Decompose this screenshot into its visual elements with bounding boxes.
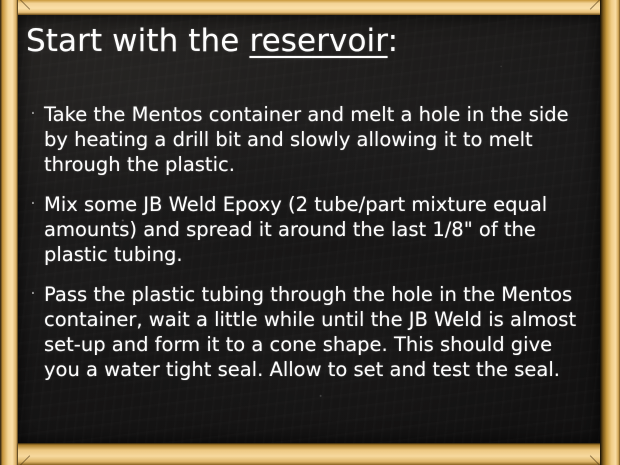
- frame-left-band: [0, 0, 18, 465]
- list-item: · Mix some JB Weld Epoxy (2 tube/part mi…: [22, 192, 596, 267]
- bullet-text: Mix some JB Weld Epoxy (2 tube/part mixt…: [44, 192, 596, 267]
- slide-title-underlined-term: reservoir: [249, 23, 387, 59]
- slide-title-suffix: :: [388, 23, 399, 59]
- bullet-dot-icon: ·: [22, 192, 44, 217]
- frame-bottom-band: [0, 443, 620, 465]
- slide-content: Start with the reservoir: · Take the Men…: [18, 15, 600, 443]
- slide-title-prefix: Start with the: [26, 23, 249, 59]
- bullet-dot-icon: ·: [22, 282, 44, 307]
- chalkboard-slide: Start with the reservoir: · Take the Men…: [0, 0, 620, 465]
- list-item: · Pass the plastic tubing through the ho…: [22, 282, 596, 382]
- list-item: · Take the Mentos container and melt a h…: [22, 102, 596, 177]
- frame-right-band: [600, 0, 620, 465]
- frame-top-band: [0, 0, 620, 15]
- chalkboard-surface: Start with the reservoir: · Take the Men…: [18, 15, 600, 443]
- bullet-dot-icon: ·: [22, 102, 44, 127]
- bullet-text: Pass the plastic tubing through the hole…: [44, 282, 596, 382]
- slide-title: Start with the reservoir:: [26, 23, 398, 59]
- bullet-list: · Take the Mentos container and melt a h…: [22, 102, 596, 397]
- bullet-text: Take the Mentos container and melt a hol…: [44, 102, 596, 177]
